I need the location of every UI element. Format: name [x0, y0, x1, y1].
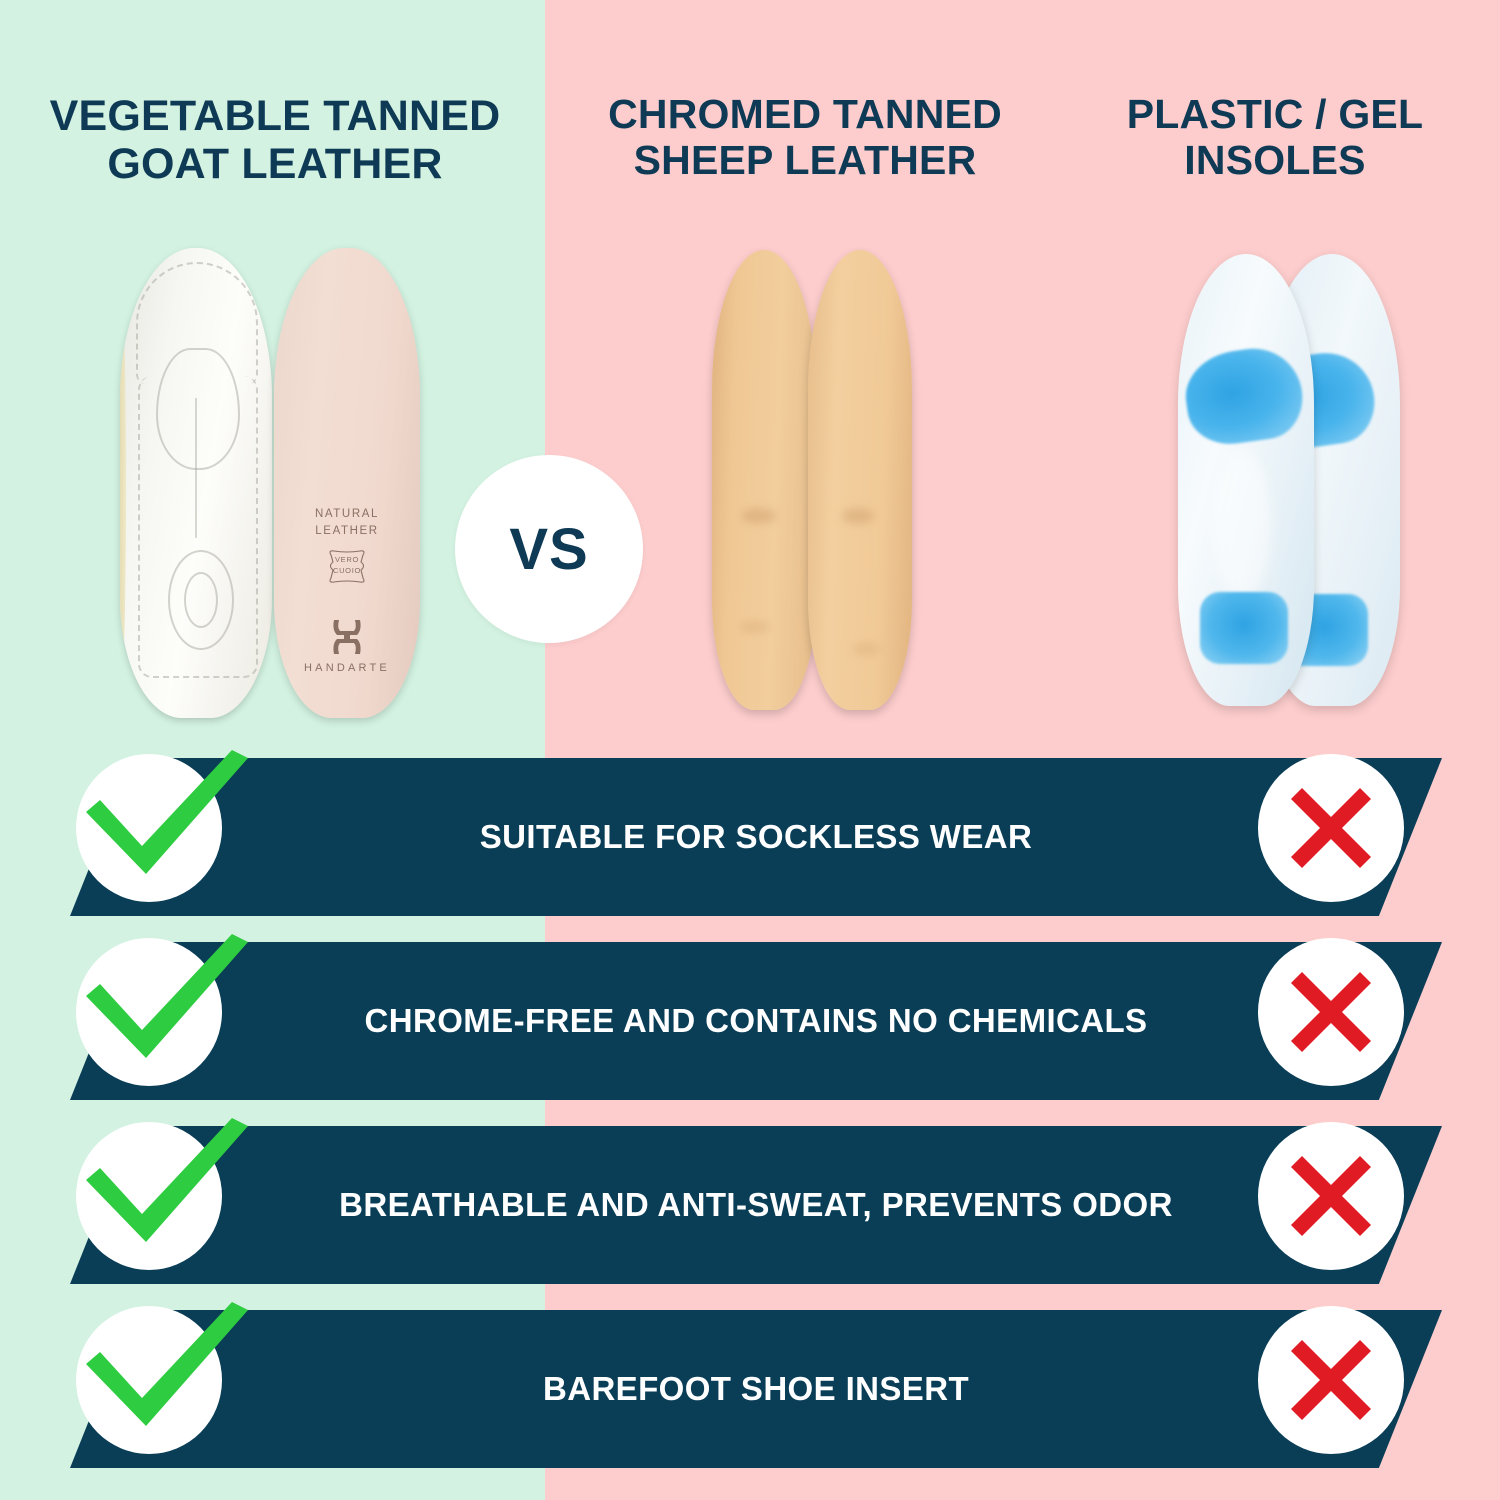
gel-forefoot-pad — [1180, 342, 1308, 449]
feature-label: SUITABLE FOR SOCKLESS WEAR — [300, 819, 1212, 855]
feature-banner: CHROME-FREE AND CONTAINS NO CHEMICALS — [70, 942, 1442, 1100]
verdict-badge-left — [76, 1122, 222, 1270]
verdict-badge-right — [1258, 938, 1404, 1086]
comparison-infographic: VEGETABLE TANNED GOAT LEATHER CHROMED TA… — [0, 0, 1500, 1500]
check-icon — [80, 934, 252, 1066]
feature-row: SUITABLE FOR SOCKLESS WEAR — [0, 758, 1500, 916]
cross-icon — [1288, 1337, 1374, 1423]
feature-label: CHROME-FREE AND CONTAINS NO CHEMICALS — [185, 1003, 1328, 1039]
cross-icon — [1288, 969, 1374, 1055]
feature-label: BAREFOOT SHOE INSERT — [363, 1371, 1149, 1407]
cross-icon — [1288, 785, 1374, 871]
gel-insole-front — [1178, 254, 1314, 706]
product-image-gel-insoles — [1178, 254, 1418, 714]
check-icon — [80, 750, 252, 882]
cross-icon — [1288, 1153, 1374, 1239]
gel-heel-pad — [1200, 592, 1288, 664]
verdict-badge-right — [1258, 754, 1404, 902]
feature-banner: SUITABLE FOR SOCKLESS WEAR — [70, 758, 1442, 916]
verdict-badge-left — [76, 754, 222, 902]
feature-label: BREATHABLE AND ANTI-SWEAT, PREVENTS ODOR — [159, 1187, 1353, 1223]
check-icon — [80, 1118, 252, 1250]
verdict-badge-right — [1258, 1306, 1404, 1454]
feature-banner: BAREFOOT SHOE INSERT — [70, 1310, 1442, 1468]
feature-rows: SUITABLE FOR SOCKLESS WEAR CHROME-FREE A… — [0, 0, 1500, 1500]
feature-banner: BREATHABLE AND ANTI-SWEAT, PREVENTS ODOR — [70, 1126, 1442, 1284]
verdict-badge-left — [76, 1306, 222, 1454]
gel-arch-highlight — [1212, 450, 1272, 600]
verdict-badge-right — [1258, 1122, 1404, 1270]
vs-badge: VS — [455, 455, 643, 643]
vs-badge-label: VS — [509, 516, 588, 583]
verdict-badge-left — [76, 938, 222, 1086]
feature-row: BAREFOOT SHOE INSERT — [0, 1310, 1500, 1468]
check-icon — [80, 1302, 252, 1434]
feature-row: BREATHABLE AND ANTI-SWEAT, PREVENTS ODOR — [0, 1126, 1500, 1284]
feature-row: CHROME-FREE AND CONTAINS NO CHEMICALS — [0, 942, 1500, 1100]
